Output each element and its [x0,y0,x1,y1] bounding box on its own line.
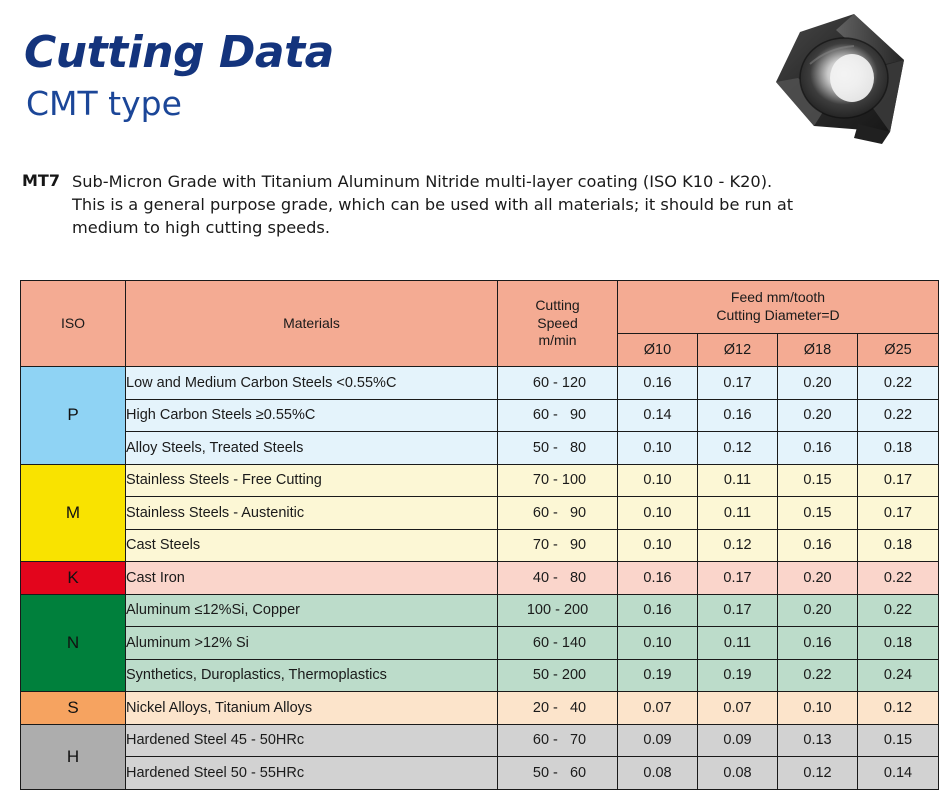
feed-value-d10: 0.14 [618,399,698,432]
iso-group-h: H [21,724,126,789]
cutting-speed-line-3: m/min [498,332,617,350]
feed-value-d10: 0.09 [618,724,698,757]
feed-value-d18: 0.15 [778,464,858,497]
feed-group-line-2: Cutting Diameter=D [618,307,938,325]
feed-value-d18: 0.22 [778,659,858,692]
feed-value-d10: 0.10 [618,529,698,562]
feed-value-d10: 0.10 [618,432,698,465]
table-row: K Cast Iron 40 - 80 0.16 0.17 0.20 0.22 [21,562,939,595]
column-header-dia-18: Ø18 [778,333,858,366]
cutting-speed-value: 50 - 60 [498,757,618,790]
feed-value-d18: 0.12 [778,757,858,790]
grade-description: MT7 Sub-Micron Grade with Titanium Alumi… [22,170,932,239]
material-name: Nickel Alloys, Titanium Alloys [126,692,498,725]
table-row: Synthetics, Duroplastics, Thermoplastics… [21,659,939,692]
feed-value-d12: 0.12 [698,529,778,562]
feed-value-d18: 0.20 [778,367,858,400]
material-name: Hardened Steel 50 - 55HRc [126,757,498,790]
material-name: High Carbon Steels ≥0.55%C [126,399,498,432]
table-row: H Hardened Steel 45 - 50HRc 60 - 70 0.09… [21,724,939,757]
cutting-speed-value: 60 - 70 [498,724,618,757]
material-name: Stainless Steels - Austenitic [126,497,498,530]
table-row: M Stainless Steels - Free Cutting 70 - 1… [21,464,939,497]
feed-value-d25: 0.24 [858,659,939,692]
material-name: Aluminum ≤12%Si, Copper [126,594,498,627]
cutting-speed-value: 70 - 90 [498,529,618,562]
feed-value-d25: 0.12 [858,692,939,725]
feed-value-d12: 0.17 [698,367,778,400]
feed-value-d12: 0.12 [698,432,778,465]
grade-text-line-1: Sub-Micron Grade with Titanium Aluminum … [72,170,932,193]
cutting-speed-value: 100 - 200 [498,594,618,627]
feed-value-d12: 0.17 [698,594,778,627]
column-header-materials: Materials [126,281,498,367]
material-name: Stainless Steels - Free Cutting [126,464,498,497]
cutting-speed-value: 60 - 90 [498,399,618,432]
cutting-data-sheet: Cutting Data CMT type [0,0,948,805]
feed-value-d10: 0.16 [618,562,698,595]
cutting-speed-line-2: Speed [498,315,617,333]
feed-value-d10: 0.10 [618,627,698,660]
iso-group-n: N [21,594,126,692]
grade-text-line-2: This is a general purpose grade, which c… [72,193,932,216]
feed-value-d10: 0.08 [618,757,698,790]
column-header-iso: ISO [21,281,126,367]
feed-value-d25: 0.22 [858,367,939,400]
cutting-speed-value: 20 - 40 [498,692,618,725]
table-body: P Low and Medium Carbon Steels <0.55%C 6… [21,367,939,790]
feed-value-d18: 0.13 [778,724,858,757]
cutting-speed-value: 70 - 100 [498,464,618,497]
feed-value-d10: 0.07 [618,692,698,725]
cutting-speed-value: 50 - 200 [498,659,618,692]
feed-value-d25: 0.18 [858,627,939,660]
table-row: Hardened Steel 50 - 55HRc 50 - 60 0.08 0… [21,757,939,790]
feed-value-d10: 0.10 [618,497,698,530]
cutting-speed-value: 60 - 120 [498,367,618,400]
table-row: P Low and Medium Carbon Steels <0.55%C 6… [21,367,939,400]
table-row: Aluminum >12% Si 60 - 140 0.10 0.11 0.16… [21,627,939,660]
table-row: N Aluminum ≤12%Si, Copper 100 - 200 0.16… [21,594,939,627]
iso-group-m: M [21,464,126,562]
cutting-speed-value: 60 - 140 [498,627,618,660]
feed-value-d12: 0.11 [698,627,778,660]
feed-group-line-1: Feed mm/tooth [618,289,938,307]
feed-value-d12: 0.07 [698,692,778,725]
feed-value-d25: 0.15 [858,724,939,757]
cutting-speed-line-1: Cutting [498,297,617,315]
feed-value-d25: 0.22 [858,399,939,432]
feed-value-d18: 0.16 [778,627,858,660]
feed-value-d18: 0.20 [778,399,858,432]
feed-value-d18: 0.16 [778,432,858,465]
table-row: Cast Steels 70 - 90 0.10 0.12 0.16 0.18 [21,529,939,562]
cutting-speed-value: 40 - 80 [498,562,618,595]
material-name: Cast Iron [126,562,498,595]
grade-text: Sub-Micron Grade with Titanium Aluminum … [72,170,932,239]
feed-value-d10: 0.16 [618,594,698,627]
feed-value-d18: 0.10 [778,692,858,725]
feed-value-d25: 0.14 [858,757,939,790]
feed-value-d25: 0.18 [858,529,939,562]
feed-value-d10: 0.16 [618,367,698,400]
table-row: Alloy Steels, Treated Steels 50 - 80 0.1… [21,432,939,465]
feed-value-d12: 0.19 [698,659,778,692]
column-header-feed-group: Feed mm/tooth Cutting Diameter=D [618,281,939,334]
cutting-data-table: ISO Materials Cutting Speed m/min Feed m… [20,280,939,790]
material-name: Aluminum >12% Si [126,627,498,660]
feed-value-d12: 0.11 [698,497,778,530]
grade-text-line-3: medium to high cutting speeds. [72,216,932,239]
cutting-speed-value: 60 - 90 [498,497,618,530]
table-row: High Carbon Steels ≥0.55%C 60 - 90 0.14 … [21,399,939,432]
feed-value-d10: 0.19 [618,659,698,692]
feed-value-d18: 0.20 [778,594,858,627]
material-name: Hardened Steel 45 - 50HRc [126,724,498,757]
page-title: Cutting Data [24,30,724,76]
material-name: Synthetics, Duroplastics, Thermoplastics [126,659,498,692]
carbide-insert-photo [758,8,938,148]
feed-value-d18: 0.16 [778,529,858,562]
column-header-cutting-speed: Cutting Speed m/min [498,281,618,367]
iso-group-p: P [21,367,126,465]
iso-group-s: S [21,692,126,725]
material-name: Low and Medium Carbon Steels <0.55%C [126,367,498,400]
insert-illustration [758,8,938,148]
column-header-dia-12: Ø12 [698,333,778,366]
cutting-speed-value: 50 - 80 [498,432,618,465]
feed-value-d12: 0.16 [698,399,778,432]
table-header: ISO Materials Cutting Speed m/min Feed m… [21,281,939,367]
feed-value-d25: 0.17 [858,497,939,530]
column-header-dia-10: Ø10 [618,333,698,366]
grade-code: MT7 [22,170,60,190]
feed-value-d25: 0.22 [858,594,939,627]
iso-group-k: K [21,562,126,595]
feed-value-d18: 0.20 [778,562,858,595]
page-subtitle: CMT type [26,86,724,122]
feed-value-d25: 0.18 [858,432,939,465]
feed-value-d12: 0.09 [698,724,778,757]
title-block: Cutting Data CMT type [24,30,724,122]
material-name: Alloy Steels, Treated Steels [126,432,498,465]
feed-value-d12: 0.08 [698,757,778,790]
feed-value-d12: 0.11 [698,464,778,497]
feed-value-d18: 0.15 [778,497,858,530]
table-row: Stainless Steels - Austenitic 60 - 90 0.… [21,497,939,530]
material-name: Cast Steels [126,529,498,562]
feed-value-d10: 0.10 [618,464,698,497]
column-header-dia-25: Ø25 [858,333,939,366]
feed-value-d12: 0.17 [698,562,778,595]
feed-value-d25: 0.17 [858,464,939,497]
feed-value-d25: 0.22 [858,562,939,595]
table-row: S Nickel Alloys, Titanium Alloys 20 - 40… [21,692,939,725]
